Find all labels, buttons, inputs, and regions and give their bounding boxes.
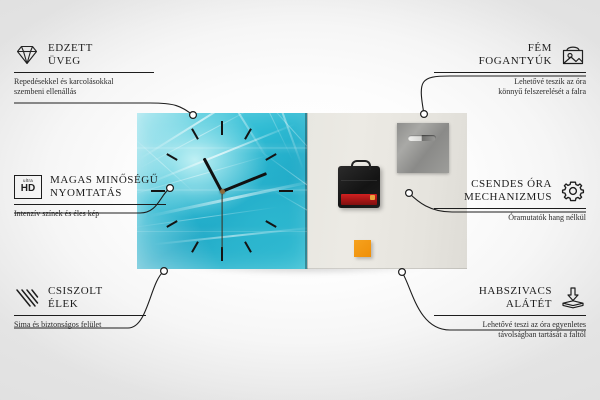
infographic-canvas: EDZETT ÜVEG Repedésekkel és karcolásokka… bbox=[0, 0, 600, 400]
callout-description: Sima és biztonságos felület bbox=[14, 320, 146, 330]
polished-edges-icon bbox=[14, 286, 40, 310]
mechanism-seam bbox=[341, 180, 377, 181]
foam-pad bbox=[354, 240, 371, 257]
callout-title: HABSZIVACS ALÁTÉT bbox=[479, 285, 552, 310]
hour-marker bbox=[221, 121, 223, 135]
hour-marker bbox=[279, 190, 293, 192]
hour-hand bbox=[203, 157, 224, 192]
callout-title: CSENDES ÓRA MECHANIZMUS bbox=[464, 178, 552, 203]
callout-csendes-ora-mechanizmus: CSENDES ÓRA MECHANIZMUS Óramutatók hang … bbox=[434, 178, 586, 223]
callout-rule bbox=[434, 72, 586, 73]
callout-edzett-uveg: EDZETT ÜVEG Repedésekkel és karcolásokka… bbox=[14, 42, 154, 97]
ultra-hd-large-label: HD bbox=[21, 184, 35, 194]
callout-title: CSISZOLT ÉLEK bbox=[48, 285, 103, 310]
callout-magas-minosegu-nyomtatas: ultra HD MAGAS MINŐSÉGŰ NYOMTATÁS Intenz… bbox=[14, 174, 166, 219]
callout-title: EDZETT ÜVEG bbox=[48, 42, 93, 67]
hour-marker bbox=[191, 128, 199, 139]
callout-description: Óramutatók hang nélkül bbox=[434, 213, 586, 223]
callout-rule bbox=[434, 208, 586, 209]
ultra-hd-icon: ultra HD bbox=[14, 175, 42, 199]
gear-icon bbox=[560, 179, 586, 203]
callout-fem-fogantyuk: FÉM FOGANTYÚK Lehetővé teszik az óra kön… bbox=[434, 42, 586, 97]
clock-mechanism bbox=[338, 166, 380, 208]
hour-marker bbox=[244, 128, 252, 139]
mechanism-hanger-loop bbox=[351, 160, 371, 170]
callout-description: Lehetővé teszik az óra könnyű felszerelé… bbox=[434, 77, 586, 97]
hanger-slot bbox=[408, 135, 436, 141]
hour-marker bbox=[244, 241, 252, 252]
callout-description: Repedésekkel és karcolásokkal szembeni e… bbox=[14, 77, 154, 97]
hour-marker bbox=[265, 220, 276, 228]
minute-hand bbox=[221, 172, 267, 193]
hour-marker bbox=[166, 220, 177, 228]
wall-mount-plate-icon bbox=[560, 43, 586, 67]
callout-habszivacs-alatet: HABSZIVACS ALÁTÉT Lehetővé teszi az óra … bbox=[434, 285, 586, 340]
hour-marker bbox=[191, 241, 199, 252]
callout-rule bbox=[14, 204, 166, 205]
hour-marker bbox=[221, 247, 223, 261]
product-image bbox=[137, 113, 467, 269]
product-shadow bbox=[132, 266, 476, 292]
callout-csiszolt-elek: CSISZOLT ÉLEK Sima és biztonságos felüle… bbox=[14, 285, 146, 330]
callout-rule bbox=[434, 315, 586, 316]
callout-rule bbox=[14, 72, 154, 73]
foam-pad-icon bbox=[560, 286, 586, 310]
second-hand bbox=[221, 191, 222, 249]
callout-description: Lehetővé teszi az óra egyenletes távolsá… bbox=[434, 320, 586, 340]
metal-hanger-plate bbox=[397, 123, 449, 173]
hour-marker bbox=[166, 153, 177, 161]
callout-title: FÉM FOGANTYÚK bbox=[479, 42, 552, 67]
callout-description: Intenzív színek és éles kép bbox=[14, 209, 166, 219]
battery bbox=[341, 194, 377, 205]
hour-marker bbox=[265, 153, 276, 161]
diamond-icon bbox=[14, 43, 40, 67]
callout-title: MAGAS MINŐSÉGŰ NYOMTATÁS bbox=[50, 174, 158, 199]
clock-center-pin bbox=[220, 189, 225, 194]
callout-rule bbox=[14, 315, 146, 316]
